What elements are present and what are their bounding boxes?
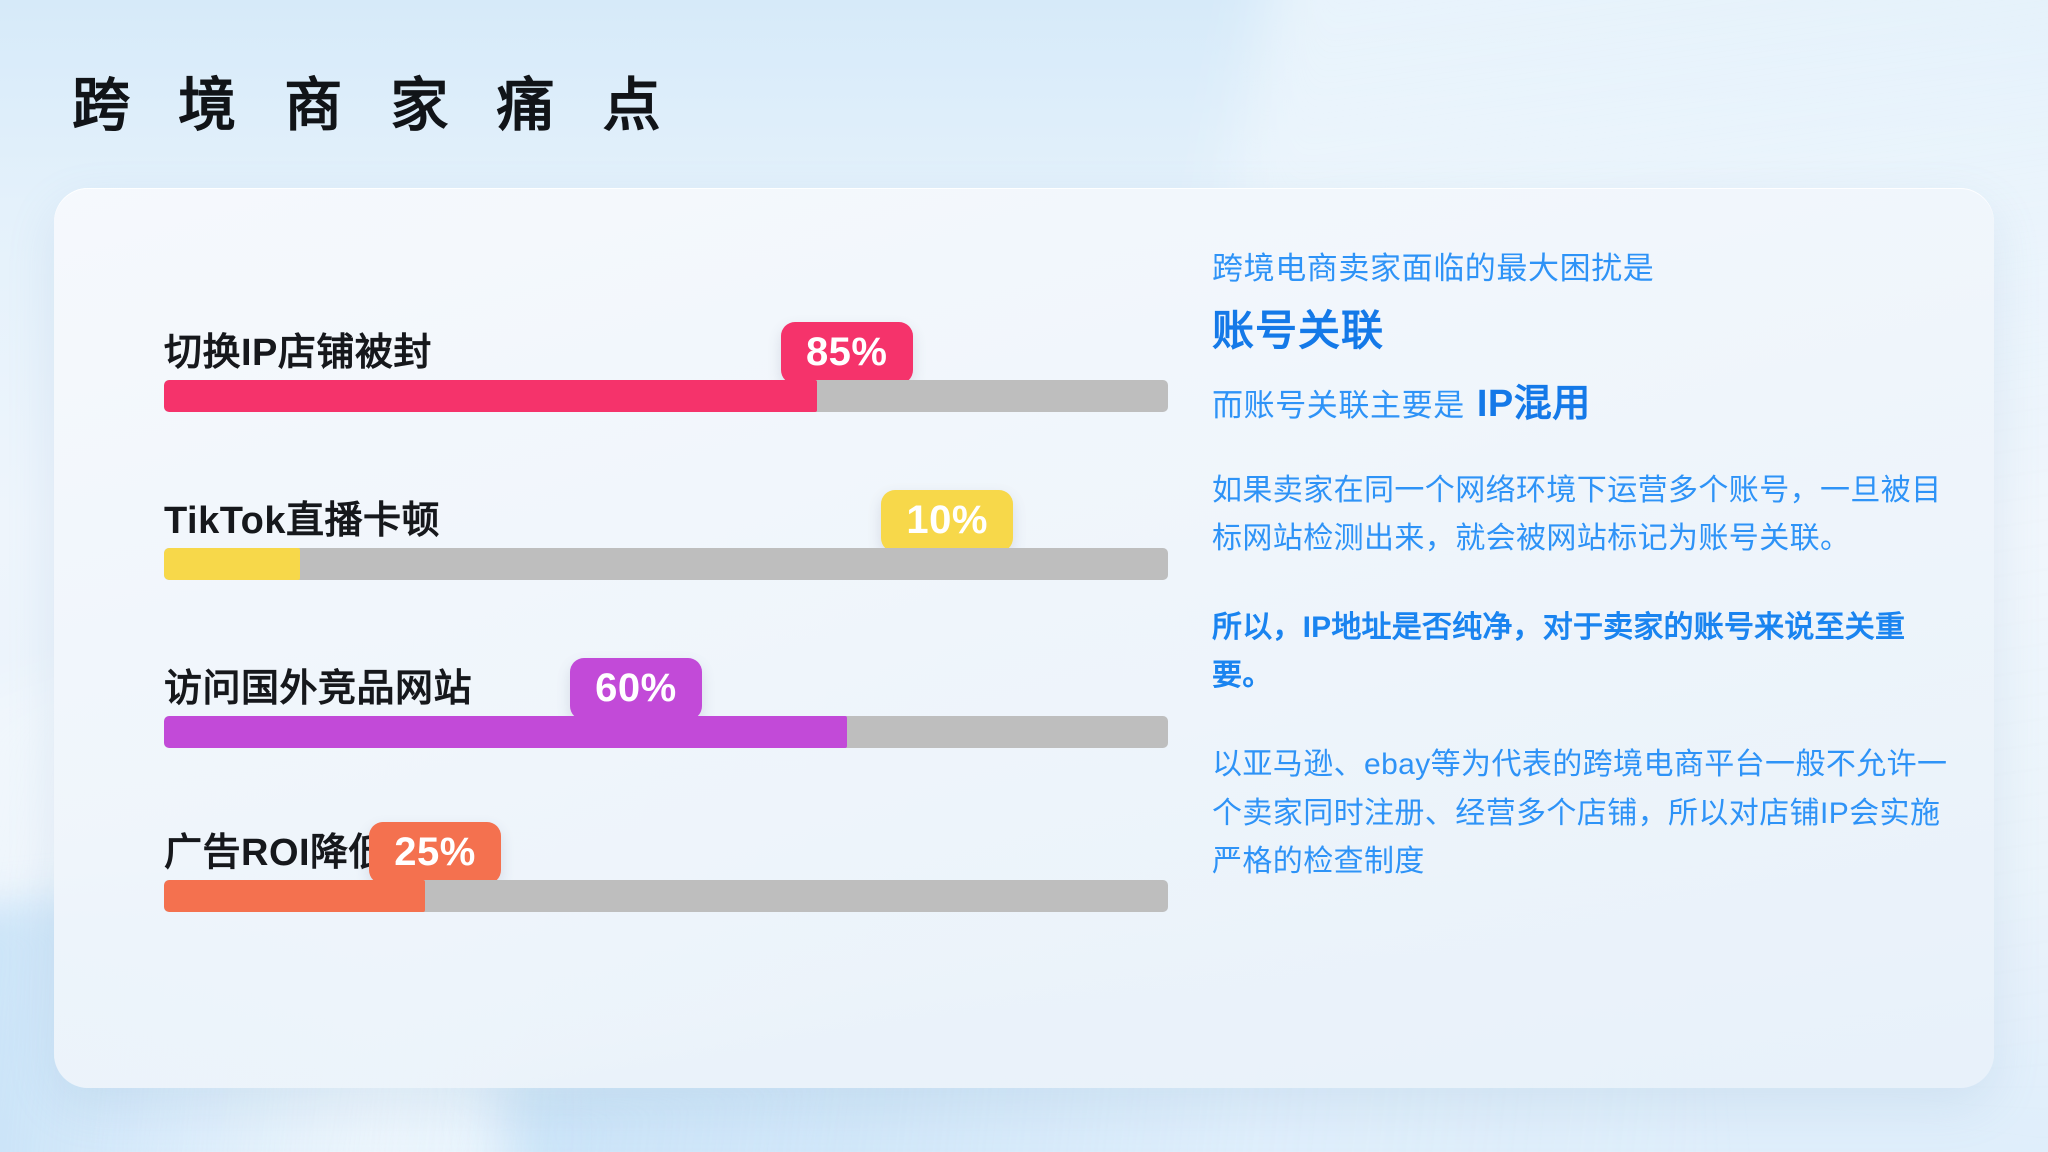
bar-track xyxy=(164,716,1168,748)
text-lead: 跨境电商卖家面临的最大困扰是 xyxy=(1212,246,1952,293)
text-mix-strong: IP混用 xyxy=(1477,383,1591,425)
bar-value-badge: 85% xyxy=(781,322,913,384)
bar-label: 切换IP店铺被封 xyxy=(164,321,432,376)
bar-row: 访问国外竞品网站 60% xyxy=(110,630,1170,748)
slide-canvas: 跨 境 商 家 痛 点 切换IP店铺被封 85% TikTok直播卡顿 10% xyxy=(0,0,2048,1152)
text-mix-line: 而账号关联主要是IP混用 xyxy=(1212,372,1952,427)
bar-label: TikTok直播卡顿 xyxy=(164,489,440,544)
bar-fill xyxy=(164,716,847,748)
bar-label: 访问国外竞品网站 xyxy=(164,657,472,712)
bar-track xyxy=(164,380,1168,412)
text-highlight: 账号关联 xyxy=(1212,305,1952,358)
text-paragraph-3: 以亚马逊、ebay等为代表的跨境电商平台一般不允许一个卖家同时注册、经营多个店铺… xyxy=(1212,741,1952,887)
bar-header: 广告ROI降低 25% xyxy=(110,794,1170,880)
bar-header: 访问国外竞品网站 60% xyxy=(110,630,1170,716)
bar-value-badge: 10% xyxy=(881,490,1013,552)
bar-fill xyxy=(164,548,300,580)
bar-fill xyxy=(164,380,817,412)
page-title: 跨 境 商 家 痛 点 xyxy=(72,58,677,142)
bar-row: TikTok直播卡顿 10% xyxy=(110,462,1170,580)
text-paragraph-1: 如果卖家在同一个网络环境下运营多个账号，一旦被目标网站检测出来，就会被网站标记为… xyxy=(1212,467,1952,564)
bar-header: 切换IP店铺被封 85% xyxy=(110,294,1170,380)
bar-row: 切换IP店铺被封 85% xyxy=(110,294,1170,412)
bar-label: 广告ROI降低 xyxy=(164,821,387,876)
pain-point-bar-chart: 切换IP店铺被封 85% TikTok直播卡顿 10% xyxy=(110,236,1170,1036)
bar-track xyxy=(164,880,1168,912)
bar-fill xyxy=(164,880,425,912)
bar-row: 广告ROI降低 25% xyxy=(110,794,1170,912)
text-paragraph-2: 所以，IP地址是否纯净，对于卖家的账号来说至关重要。 xyxy=(1212,604,1952,701)
bar-value-badge: 25% xyxy=(369,822,501,884)
bar-header: TikTok直播卡顿 10% xyxy=(110,462,1170,548)
text-mix-prefix: 而账号关联主要是 xyxy=(1212,388,1465,423)
explanation-text-panel: 跨境电商卖家面临的最大困扰是 账号关联 而账号关联主要是IP混用 如果卖家在同一… xyxy=(1212,240,1952,887)
bar-track xyxy=(164,548,1168,580)
bar-value-badge: 60% xyxy=(570,658,702,720)
content-card: 切换IP店铺被封 85% TikTok直播卡顿 10% xyxy=(54,188,1994,1088)
